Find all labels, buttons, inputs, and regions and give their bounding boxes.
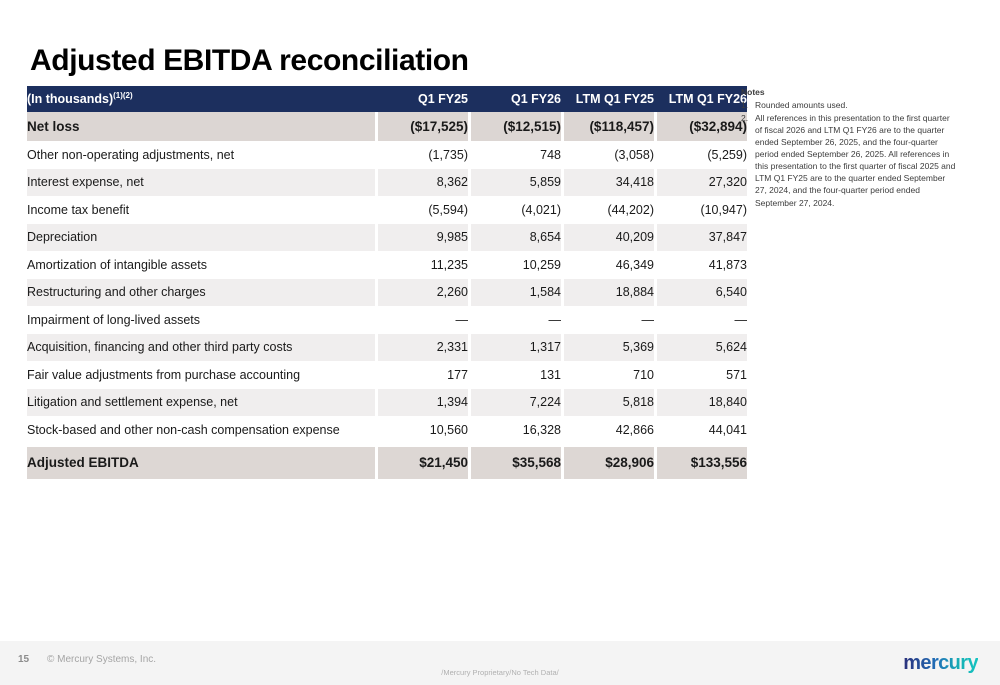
- row-label: Adjusted EBITDA: [27, 447, 375, 479]
- row-label: Net loss: [27, 112, 375, 141]
- note-item: 1.Rounded amounts used.: [741, 99, 959, 111]
- row-value-col-3: 18,840: [657, 389, 747, 417]
- table-header-row: (In thousands)(1)(2) Q1 FY25 Q1 FY26 LTM…: [27, 86, 747, 112]
- row-value-col-2: 46,349: [564, 251, 654, 279]
- notes-heading: Notes: [741, 87, 959, 97]
- note-text: All references in this presentation to t…: [755, 112, 959, 209]
- row-value-col-1: ($12,515): [471, 112, 561, 141]
- row-value-col-0: —: [378, 306, 468, 334]
- row-label: Amortization of intangible assets: [27, 251, 375, 279]
- page-title: Adjusted EBITDA reconciliation: [30, 44, 469, 78]
- row-value-col-0: $21,450: [378, 447, 468, 479]
- row-value-col-3: $133,556: [657, 447, 747, 479]
- header-label-text: (In thousands): [27, 93, 113, 107]
- row-value-col-1: 131: [471, 361, 561, 389]
- row-value-col-3: (5,259): [657, 141, 747, 169]
- row-value-col-3: 571: [657, 361, 747, 389]
- row-value-col-0: 2,260: [378, 279, 468, 307]
- row-value-col-3: 37,847: [657, 224, 747, 252]
- row-value-col-0: 9,985: [378, 224, 468, 252]
- row-value-col-0: (5,594): [378, 196, 468, 224]
- table-row: Interest expense, net8,3625,85934,41827,…: [27, 169, 747, 197]
- table-row: Fair value adjustments from purchase acc…: [27, 361, 747, 389]
- row-value-col-1: 16,328: [471, 416, 561, 444]
- row-value-col-2: 5,369: [564, 334, 654, 362]
- row-value-col-2: $28,906: [564, 447, 654, 479]
- row-value-col-1: —: [471, 306, 561, 334]
- header-cell-label: (In thousands)(1)(2): [27, 86, 375, 112]
- table-row: Litigation and settlement expense, net1,…: [27, 389, 747, 417]
- row-label: Impairment of long-lived assets: [27, 306, 375, 334]
- row-value-col-1: $35,568: [471, 447, 561, 479]
- table-body: Net loss($17,525)($12,515)($118,457)($32…: [27, 112, 747, 479]
- row-value-col-2: 18,884: [564, 279, 654, 307]
- table-row: Amortization of intangible assets11,2351…: [27, 251, 747, 279]
- header-cell-col-1: Q1 FY26: [471, 86, 561, 112]
- row-value-col-1: 10,259: [471, 251, 561, 279]
- row-value-col-3: 44,041: [657, 416, 747, 444]
- row-value-col-0: 1,394: [378, 389, 468, 417]
- row-value-col-0: 177: [378, 361, 468, 389]
- row-value-col-2: 710: [564, 361, 654, 389]
- row-value-col-3: (10,947): [657, 196, 747, 224]
- proprietary-notice: /Mercury Proprietary/No Tech Data/: [0, 668, 1000, 677]
- header-label-superscript: (1)(2): [113, 91, 133, 100]
- table-row: Adjusted EBITDA$21,450$35,568$28,906$133…: [27, 447, 747, 479]
- row-value-col-3: 27,320: [657, 169, 747, 197]
- row-value-col-2: (44,202): [564, 196, 654, 224]
- adjusted-ebitda-table: (In thousands)(1)(2) Q1 FY25 Q1 FY26 LTM…: [27, 86, 747, 479]
- row-label: Restructuring and other charges: [27, 279, 375, 307]
- row-label: Interest expense, net: [27, 169, 375, 197]
- row-label: Fair value adjustments from purchase acc…: [27, 361, 375, 389]
- note-text: Rounded amounts used.: [755, 99, 959, 111]
- table-row: Other non-operating adjustments, net(1,7…: [27, 141, 747, 169]
- row-value-col-0: ($17,525): [378, 112, 468, 141]
- header-cell-col-2: LTM Q1 FY25: [564, 86, 654, 112]
- row-label: Stock-based and other non-cash compensat…: [27, 416, 375, 444]
- row-value-col-1: 5,859: [471, 169, 561, 197]
- row-value-col-3: ($32,894): [657, 112, 747, 141]
- row-value-col-0: 10,560: [378, 416, 468, 444]
- row-label: Litigation and settlement expense, net: [27, 389, 375, 417]
- table-row: Impairment of long-lived assets————: [27, 306, 747, 334]
- row-value-col-0: 2,331: [378, 334, 468, 362]
- row-value-col-3: 6,540: [657, 279, 747, 307]
- row-value-col-3: 5,624: [657, 334, 747, 362]
- row-value-col-1: (4,021): [471, 196, 561, 224]
- row-value-col-2: —: [564, 306, 654, 334]
- row-value-col-0: (1,735): [378, 141, 468, 169]
- row-label: Depreciation: [27, 224, 375, 252]
- row-label: Other non-operating adjustments, net: [27, 141, 375, 169]
- row-value-col-2: 34,418: [564, 169, 654, 197]
- row-value-col-2: 42,866: [564, 416, 654, 444]
- table-row: Stock-based and other non-cash compensat…: [27, 416, 747, 444]
- table-row: Restructuring and other charges2,2601,58…: [27, 279, 747, 307]
- table-row: Net loss($17,525)($12,515)($118,457)($32…: [27, 112, 747, 141]
- header-cell-col-3: LTM Q1 FY26: [657, 86, 747, 112]
- row-value-col-2: 5,818: [564, 389, 654, 417]
- table-row: Depreciation9,9858,65440,20937,847: [27, 224, 747, 252]
- note-number: 2.: [741, 112, 755, 209]
- row-value-col-1: 748: [471, 141, 561, 169]
- note-number: 1.: [741, 99, 755, 111]
- row-value-col-1: 7,224: [471, 389, 561, 417]
- note-item: 2.All references in this presentation to…: [741, 112, 959, 209]
- header-cell-col-0: Q1 FY25: [378, 86, 468, 112]
- row-value-col-3: 41,873: [657, 251, 747, 279]
- notes-list: 1.Rounded amounts used.2.All references …: [741, 99, 959, 209]
- row-value-col-0: 11,235: [378, 251, 468, 279]
- row-label: Income tax benefit: [27, 196, 375, 224]
- page-number: 15: [18, 654, 29, 665]
- row-value-col-1: 8,654: [471, 224, 561, 252]
- notes-panel: Notes 1.Rounded amounts used.2.All refer…: [741, 87, 959, 210]
- row-value-col-2: 40,209: [564, 224, 654, 252]
- row-value-col-2: (3,058): [564, 141, 654, 169]
- row-value-col-3: —: [657, 306, 747, 334]
- table-row: Income tax benefit(5,594)(4,021)(44,202)…: [27, 196, 747, 224]
- row-value-col-1: 1,317: [471, 334, 561, 362]
- row-value-col-1: 1,584: [471, 279, 561, 307]
- copyright-text: © Mercury Systems, Inc.: [47, 654, 156, 665]
- table-row: Acquisition, financing and other third p…: [27, 334, 747, 362]
- row-value-col-2: ($118,457): [564, 112, 654, 141]
- row-label: Acquisition, financing and other third p…: [27, 334, 375, 362]
- mercury-logo: mercury: [903, 652, 978, 675]
- row-value-col-0: 8,362: [378, 169, 468, 197]
